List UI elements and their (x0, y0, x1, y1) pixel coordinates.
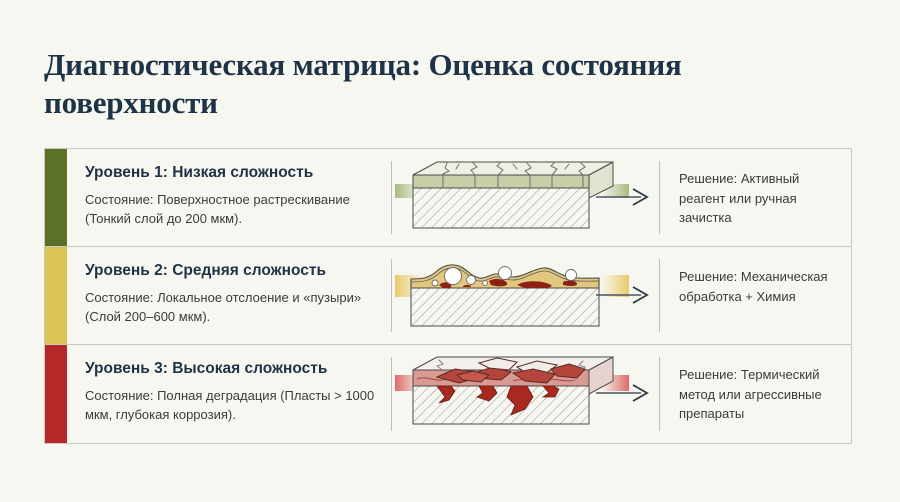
level-info-cell-2: Уровень 2: Средняя сложность Состояние: … (67, 247, 391, 344)
solution-text-1: Решение: Активный реагент или ручная зач… (679, 169, 835, 228)
level-description-2: Состояние: Локальное отслоение и «пузыри… (85, 289, 375, 326)
arrow-right-icon-2 (595, 285, 651, 305)
matrix-row-level-2: Уровень 2: Средняя сложность Состояние: … (45, 247, 851, 345)
arrow-right-icon-1 (595, 187, 651, 207)
page-root: Диагностическая матрица: Оценка состояни… (0, 0, 900, 502)
matrix-row-level-1: Уровень 1: Низкая сложность Состояние: П… (45, 149, 851, 247)
level-info-cell-1: Уровень 1: Низкая сложность Состояние: П… (67, 149, 391, 246)
solution-cell-2: Решение: Механическая обработка + Химия (659, 247, 851, 344)
solution-cell-3: Решение: Термический метод или агрессивн… (659, 345, 851, 443)
arrow-right-icon-3 (595, 383, 651, 403)
page-title: Диагностическая матрица: Оценка состояни… (44, 46, 844, 122)
diagnostic-matrix: Уровень 1: Низкая сложность Состояние: П… (44, 148, 852, 444)
level-title-1: Уровень 1: Низкая сложность (85, 163, 375, 182)
matrix-row-level-3: Уровень 3: Высокая сложность Состояние: … (45, 345, 851, 443)
level-color-bar-2 (45, 247, 67, 344)
column-divider-1b (659, 161, 660, 234)
level-description-1: Состояние: Поверхностное растрескивание … (85, 191, 375, 228)
column-divider-3b (659, 357, 660, 431)
level-color-bar-1 (45, 149, 67, 246)
illustration-cell-1 (391, 149, 659, 246)
level-title-3: Уровень 3: Высокая сложность (85, 359, 375, 378)
illustration-cell-3 (391, 345, 659, 443)
level-color-bar-3 (45, 345, 67, 443)
solution-cell-1: Решение: Активный реагент или ручная зач… (659, 149, 851, 246)
level-description-3: Состояние: Полная деградация (Пласты > 1… (85, 387, 375, 424)
level-title-2: Уровень 2: Средняя сложность (85, 261, 375, 280)
level-info-cell-3: Уровень 3: Высокая сложность Состояние: … (67, 345, 391, 443)
solution-text-3: Решение: Термический метод или агрессивн… (679, 365, 835, 424)
solution-text-2: Решение: Механическая обработка + Химия (679, 267, 835, 306)
column-divider-2b (659, 259, 660, 332)
illustration-cell-2 (391, 247, 659, 344)
